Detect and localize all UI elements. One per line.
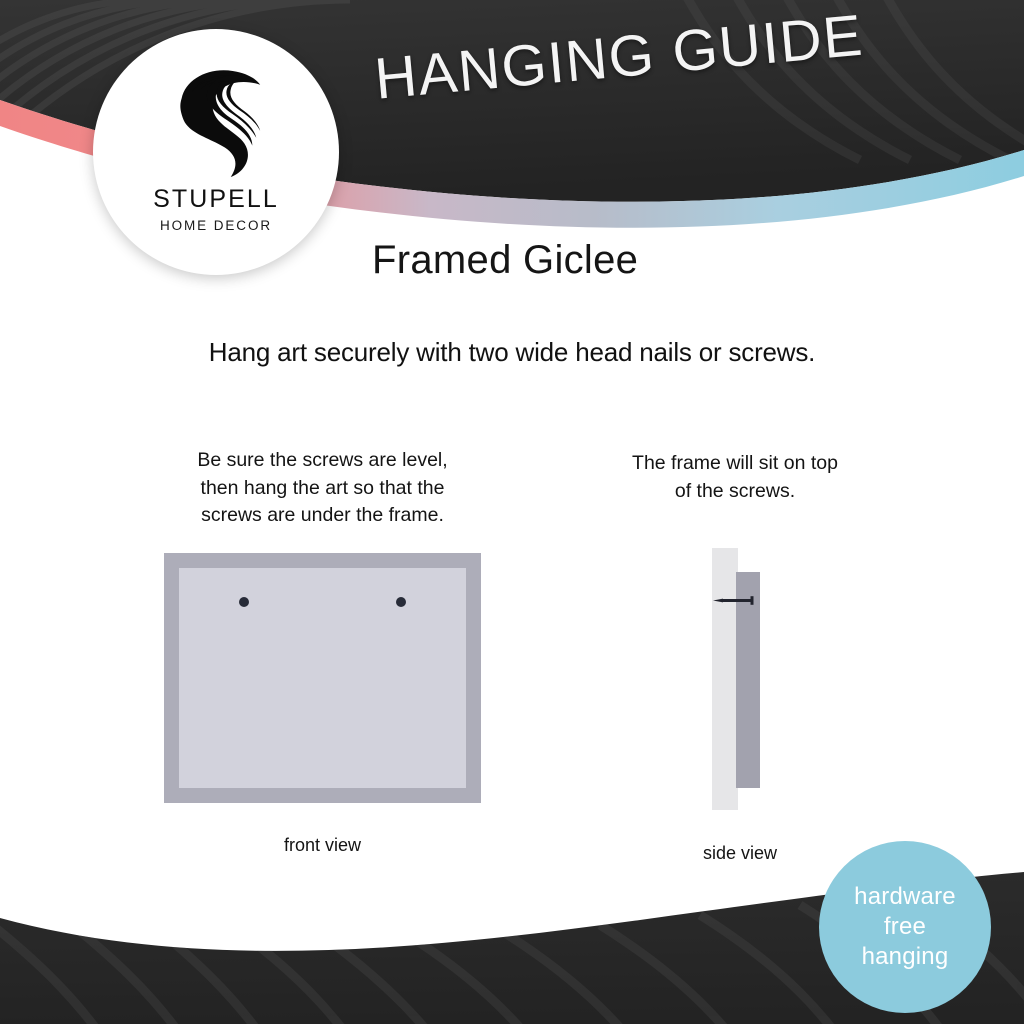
- frame-inner-art: [179, 568, 466, 788]
- side-view-diagram: [700, 548, 780, 810]
- nail-icon: [713, 596, 759, 605]
- main-instruction-text: Hang art securely with two wide head nai…: [0, 337, 1024, 368]
- side-view-label: side view: [660, 843, 820, 864]
- logo-tagline: HOME DECOR: [160, 219, 272, 233]
- hardware-free-badge: hardware free hanging: [819, 841, 991, 1013]
- side-view-caption: The frame will sit on top of the screws.: [600, 450, 870, 505]
- stupell-swoosh-mark: [162, 63, 270, 181]
- page-title: HANGING GUIDE: [372, 2, 866, 113]
- caption-line: of the screws.: [600, 478, 870, 506]
- badge-line: free: [884, 912, 926, 942]
- logo-wordmark: STUPELL: [153, 187, 279, 212]
- front-view-diagram: [164, 553, 481, 803]
- badge-line: hardware: [854, 882, 956, 912]
- product-type-title: Framed Giclee: [372, 238, 638, 283]
- caption-line: Be sure the screws are level,: [155, 447, 490, 475]
- caption-line: then hang the art so that the: [155, 475, 490, 503]
- brand-logo-badge: STUPELL HOME DECOR: [93, 29, 339, 275]
- screw-dot-left: [239, 597, 249, 607]
- front-view-label: front view: [164, 835, 481, 856]
- hanging-guide-page: STUPELL HOME DECOR HANGING GUIDE Framed …: [0, 0, 1024, 1024]
- screw-dot-right: [396, 597, 406, 607]
- caption-line: screws are under the frame.: [155, 502, 490, 530]
- front-view-caption: Be sure the screws are level, then hang …: [155, 447, 490, 530]
- wall-strip: [712, 548, 738, 810]
- badge-line: hanging: [862, 942, 949, 972]
- caption-line: The frame will sit on top: [600, 450, 870, 478]
